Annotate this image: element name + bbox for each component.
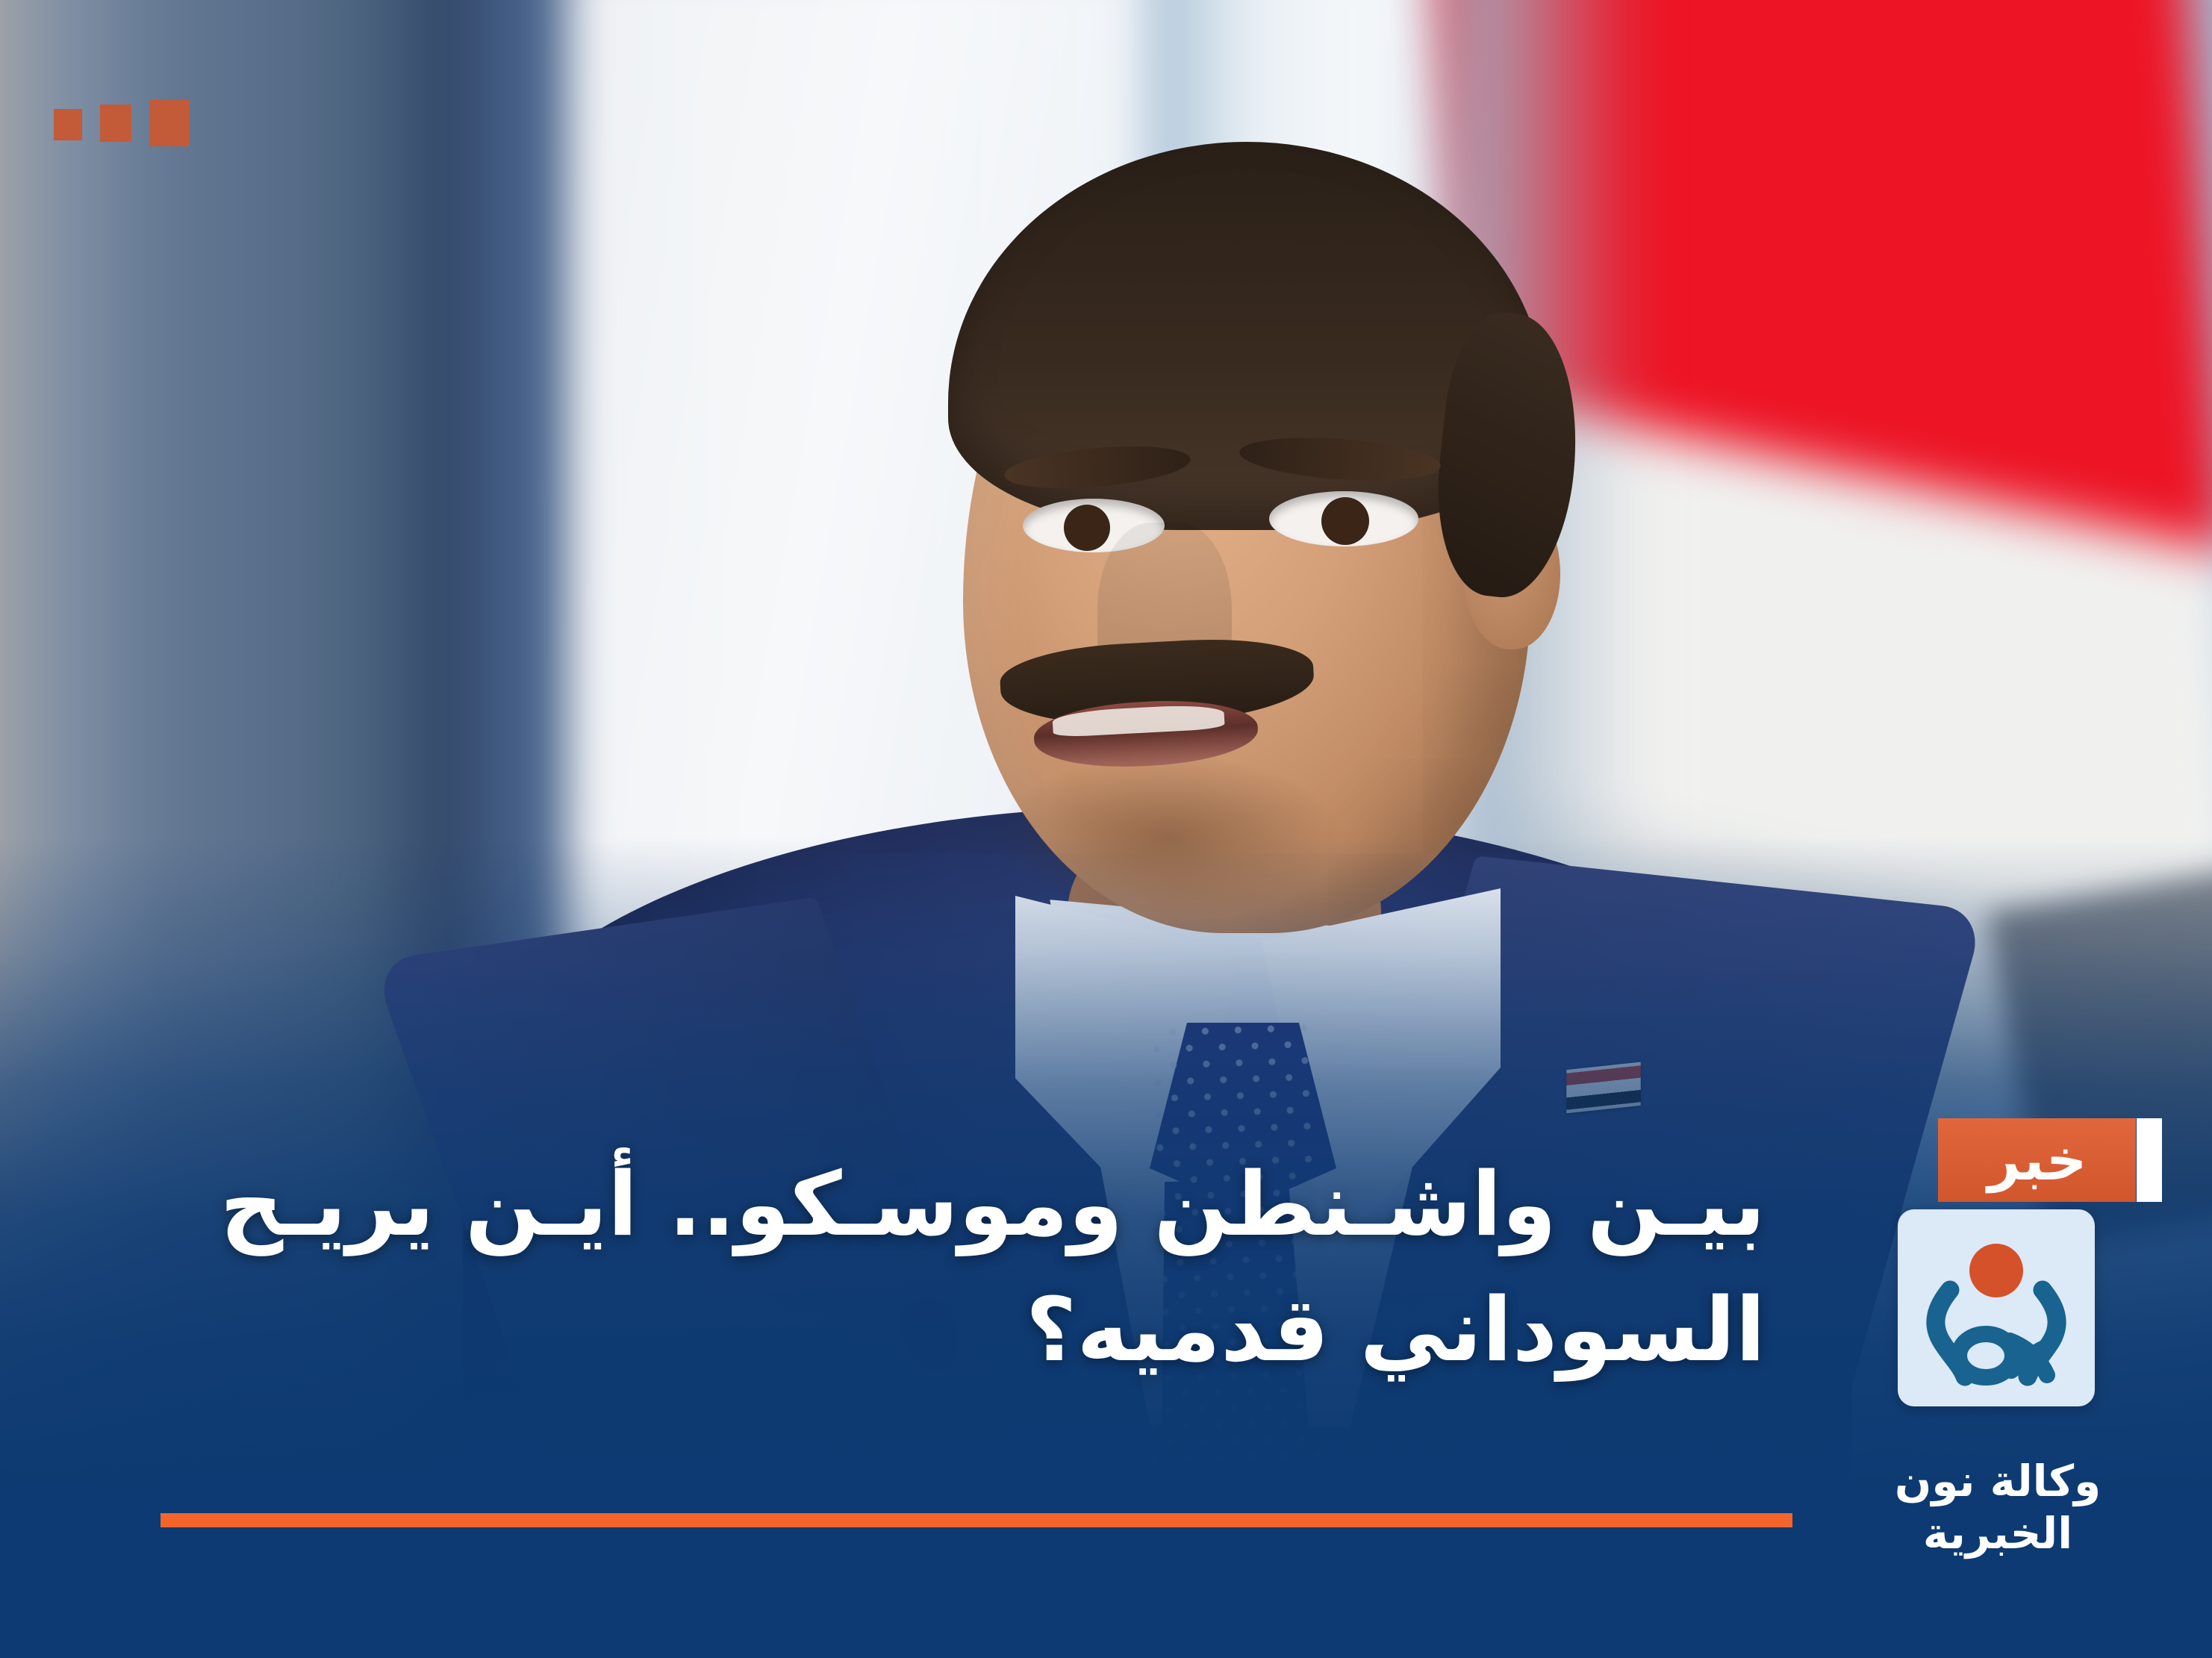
noon-logo [1898, 1209, 2095, 1406]
agency-name: وكالة نون الخبرية [1834, 1456, 2162, 1559]
badge-white-bar [2137, 1118, 2162, 1202]
three-bar-mark-icon [54, 100, 190, 146]
bar-tall-icon [149, 100, 190, 146]
headline-line-1: بيـن واشـنطن وموسـكو.. أيـن يريـح [127, 1142, 1766, 1268]
bar-short-icon [54, 109, 82, 140]
news-card: بيـن واشـنطن وموسـكو.. أيـن يريـح السودا… [0, 0, 2212, 1658]
brand-block: خبر وكالة نون الخبرية [1834, 1118, 2162, 1202]
headline: بيـن واشـنطن وموسـكو.. أيـن يريـح السودا… [127, 1142, 1766, 1392]
headline-line-2: السوداني قدميه؟ [127, 1268, 1766, 1393]
bar-medium-icon [100, 105, 131, 142]
orange-divider-rule [161, 1513, 1792, 1527]
news-category-badge: خبر [1938, 1118, 2162, 1202]
badge-label: خبر [1987, 1132, 2087, 1188]
pupil-right [1321, 497, 1369, 545]
pupil-left [1064, 505, 1110, 551]
